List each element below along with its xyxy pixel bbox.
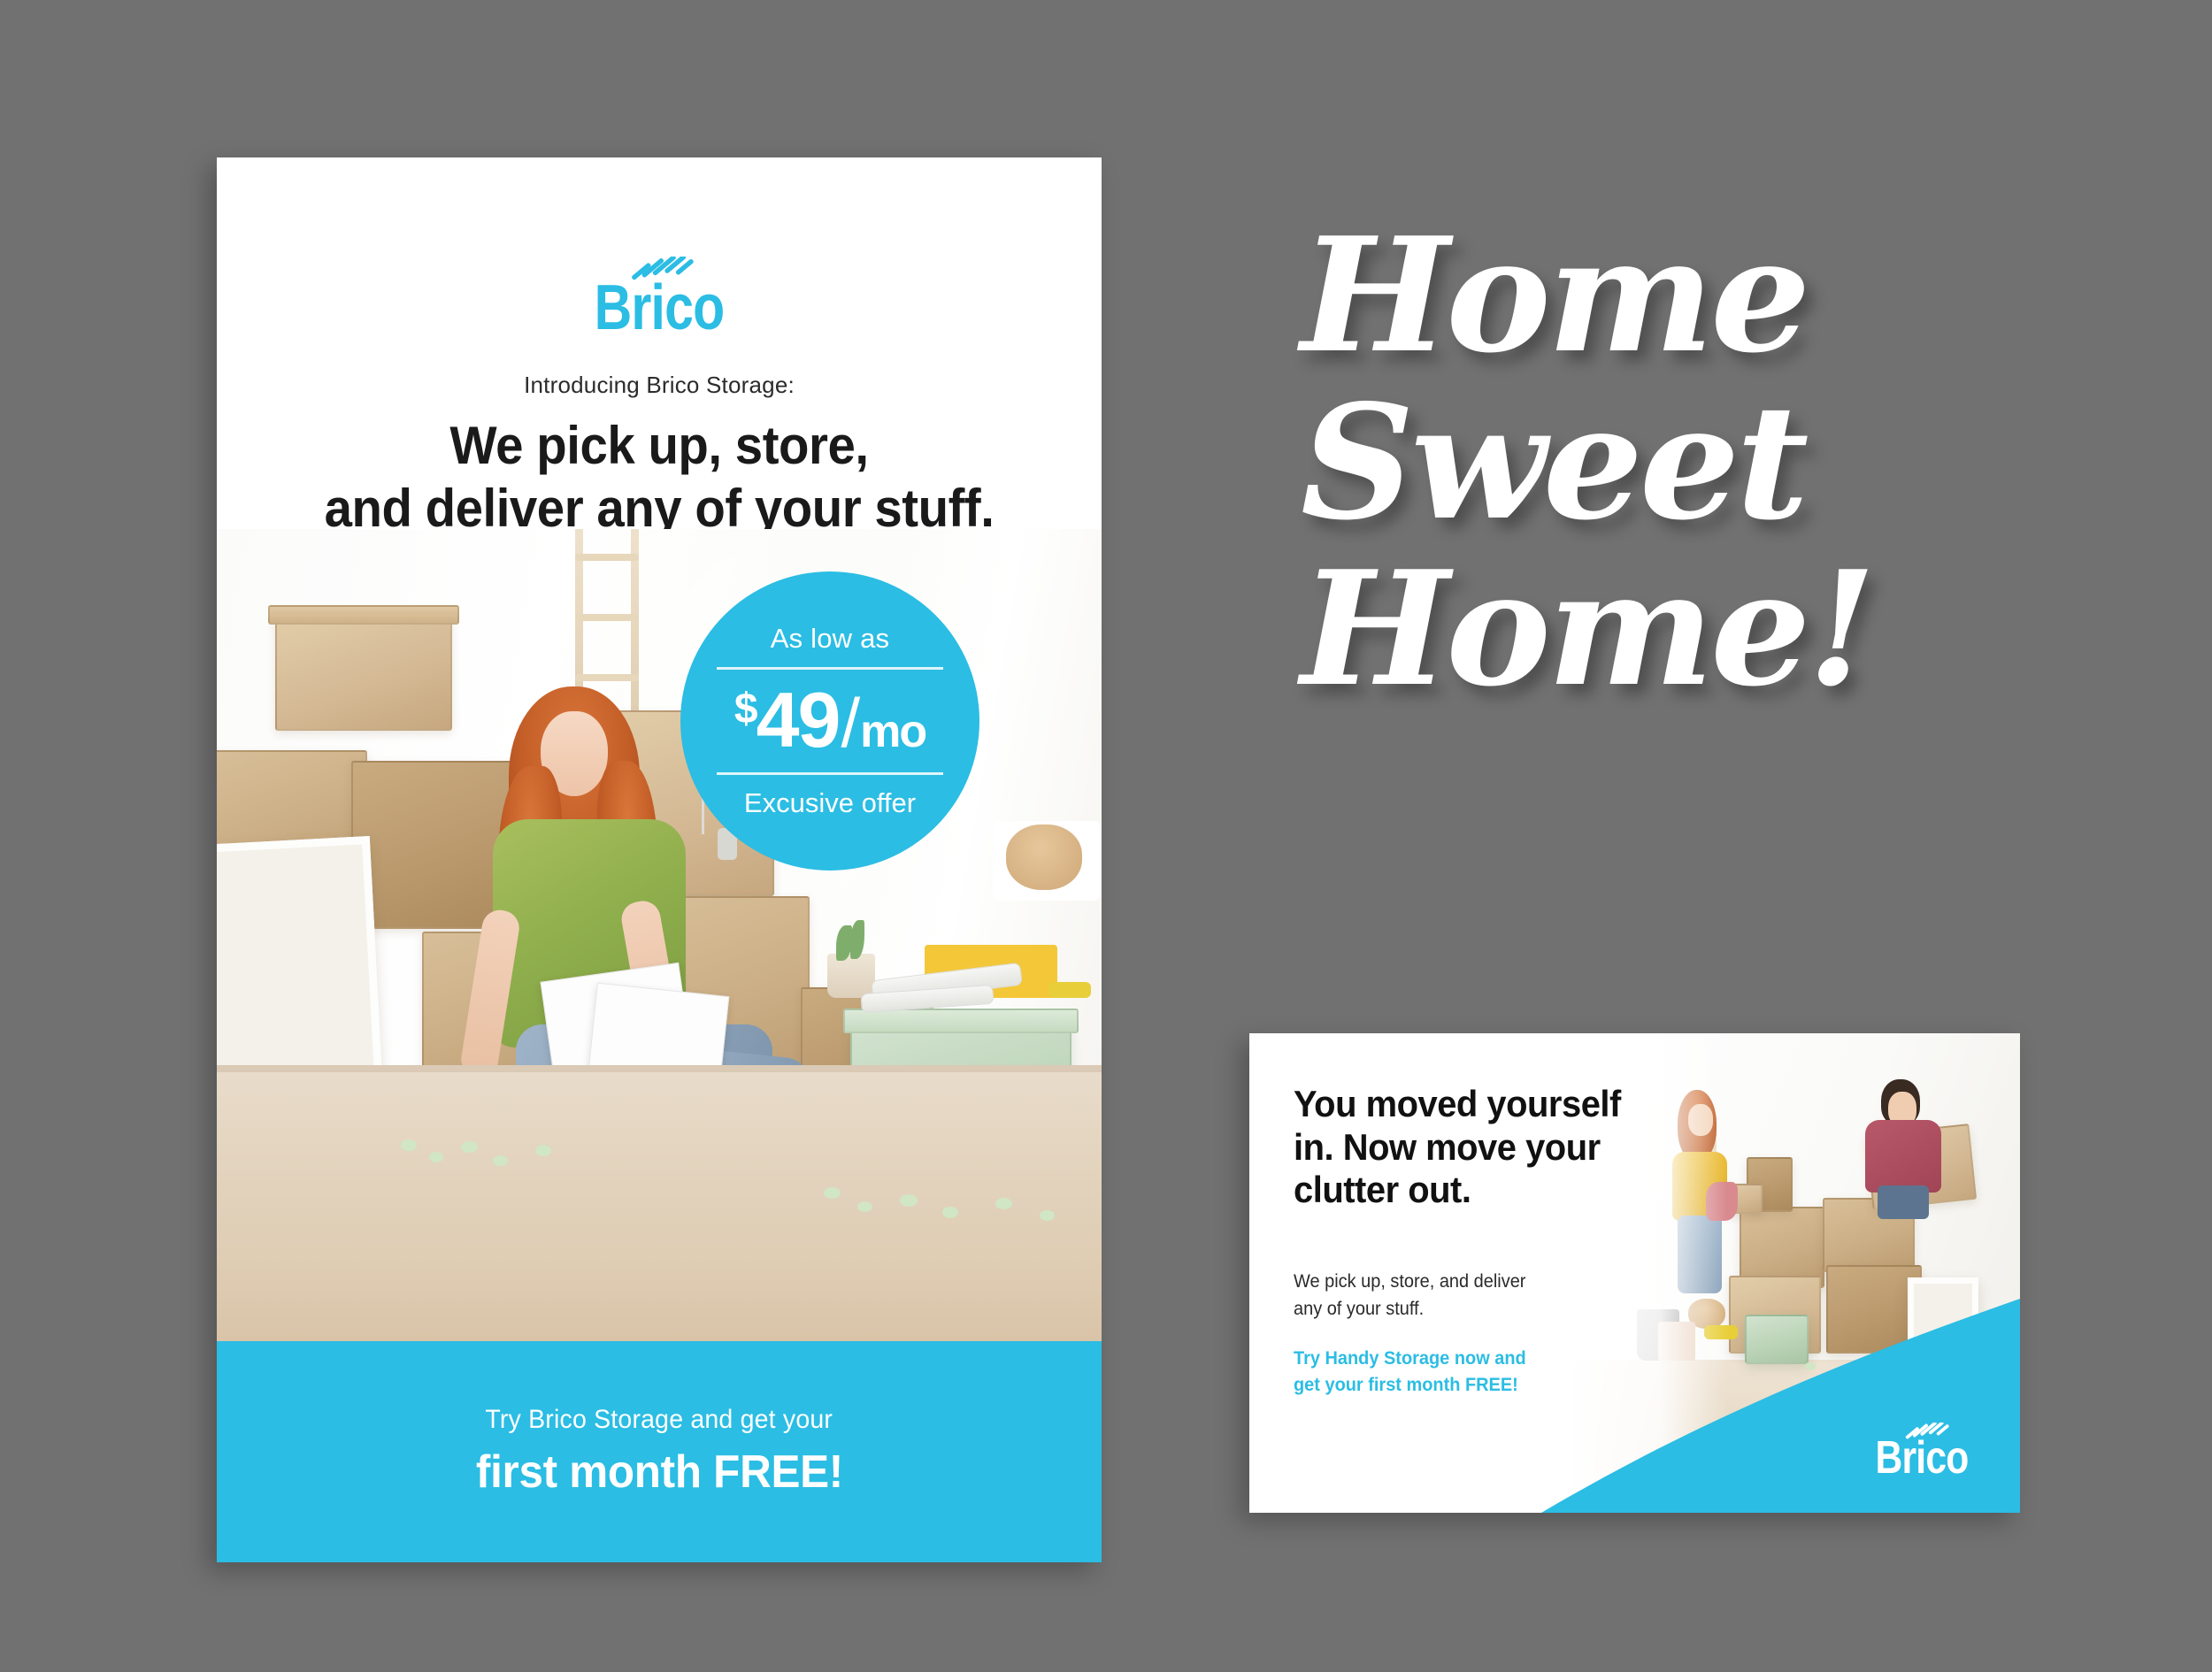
photo-packing-pellet [995,1198,1012,1209]
banner-artboard: You moved yourself in. Now move your clu… [1249,1033,2020,1513]
price-number: 49 [757,679,840,761]
script-headline: Home Sweet Home! [1301,212,2115,713]
brico-logo: Brico [575,257,743,341]
poster-footer-big-text: first month FREE! [475,1446,842,1499]
price-badge-top-label: As low as [771,623,889,655]
price-separator: / [841,686,858,760]
poster-kicker: Introducing Brico Storage: [524,372,795,399]
design-mockup-stage: Brico Introducing Brico Storage: We pick… [0,0,2212,1672]
photo-packing-pellet [857,1201,872,1212]
banner-subtext: We pick up, store, and deliver any of yo… [1294,1269,1984,1323]
banner-brico-logo: Brico [1864,1423,1979,1484]
price-badge-amount: $49/mo [734,670,926,771]
price-badge-bottom-label: Excusive offer [744,787,916,819]
poster-artboard: Brico Introducing Brico Storage: We pick… [217,157,1102,1562]
photo-toy-trike [1048,982,1091,998]
banner-headline: You moved yourself in. Now move your clu… [1294,1083,1984,1212]
price-badge-divider-bottom [717,772,943,775]
poster-footer-bar: Try Brico Storage and get your first mon… [217,1341,1102,1562]
price-badge: As low as $49/mo Excusive offer [680,571,979,871]
photo-box [275,616,452,731]
price-period: mo [860,708,926,756]
script-headline-line-3: Home! [1301,546,2115,713]
poster-headline-line-1: We pick up, store, [243,414,1075,477]
poster-photo-moving-scene [217,529,1102,1341]
banner-subtext-line-2: any of your stuff. [1294,1296,1984,1323]
photo-plant-pot [827,954,875,998]
photo-packing-pellet [401,1139,417,1151]
photo-floor [217,1065,1102,1341]
banner-headline-line-2: in. Now move your [1294,1126,1984,1170]
banner-cta-line-1: Try Handy Storage now and [1294,1346,1984,1372]
poster-brand-lockup: Brico Introducing Brico Storage: [217,257,1102,399]
script-headline-line-1: Home [1301,212,2115,380]
photo-packing-pellet [461,1141,478,1153]
banner-brico-logo-text: Brico [1875,1435,1970,1481]
banner-headline-line-1: You moved yourself [1294,1083,1984,1126]
photo-packing-pellet [493,1155,508,1166]
photo-box-lid [268,605,459,625]
photo-packing-pellet [1040,1210,1055,1221]
photo-packing-pellet [535,1145,551,1156]
photo-packing-pellet [429,1152,443,1162]
price-currency: $ [734,687,757,732]
poster-footer-small-text: Try Brico Storage and get your [486,1405,833,1435]
photo-green-box-lid [843,1009,1079,1033]
banner-cta-text[interactable]: Try Handy Storage now and get your first… [1294,1346,1984,1400]
banner-cta-line-2: get your first month FREE! [1294,1372,1984,1399]
banner-subtext-line-1: We pick up, store, and deliver [1294,1269,1984,1295]
photo-packing-pellet [900,1194,918,1207]
photo-teddy-bear [1006,824,1082,890]
script-headline-line-2: Sweet [1301,380,2115,547]
brico-logo-text: Brico [590,276,728,340]
photo-packing-pellet [942,1207,958,1218]
poster-headline: We pick up, store, and deliver any of yo… [243,414,1075,541]
banner-headline-line-3: clutter out. [1294,1169,1984,1212]
photo-packing-pellet [824,1187,841,1199]
